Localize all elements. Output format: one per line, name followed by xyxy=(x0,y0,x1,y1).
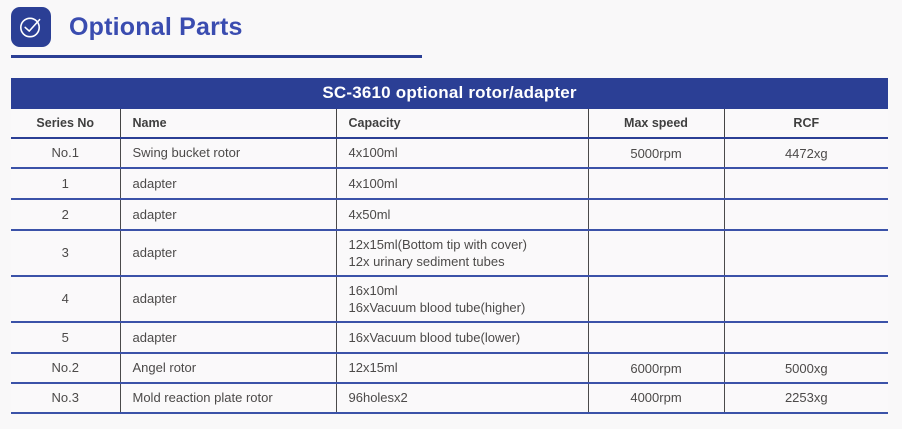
cell-series-no: 3 xyxy=(11,230,120,276)
cell-max-speed: 5000rpm xyxy=(588,138,724,168)
cell-capacity: 96holesx2 xyxy=(336,383,588,413)
cell-rcf xyxy=(724,168,888,199)
cell-name: adapter xyxy=(120,276,336,322)
cell-max-speed xyxy=(588,230,724,276)
table-row: 3 adapter 12x15ml(Bottom tip with cover)… xyxy=(11,230,888,276)
optional-parts-page: Optional Parts SC-3610 optional rotor/ad… xyxy=(0,0,902,429)
column-header-rcf: RCF xyxy=(724,109,888,138)
cell-name: Angel rotor xyxy=(120,353,336,383)
cell-series-no: 2 xyxy=(11,199,120,230)
cell-max-speed: 4000rpm xyxy=(588,383,724,413)
cell-name: adapter xyxy=(120,322,336,353)
cell-capacity: 4x100ml xyxy=(336,168,588,199)
column-header-name: Name xyxy=(120,109,336,138)
spec-table-wrap: SC-3610 optional rotor/adapter Series No… xyxy=(11,78,888,414)
cell-rcf: 4472xg xyxy=(724,138,888,168)
cell-rcf: 5000xg xyxy=(724,353,888,383)
table-body: No.1 Swing bucket rotor 4x100ml 5000rpm … xyxy=(11,138,888,413)
cell-name: Swing bucket rotor xyxy=(120,138,336,168)
column-header-capacity: Capacity xyxy=(336,109,588,138)
table-row: 2 adapter 4x50ml xyxy=(11,199,888,230)
cell-series-no: No.2 xyxy=(11,353,120,383)
cell-name: adapter xyxy=(120,230,336,276)
cell-max-speed xyxy=(588,199,724,230)
table-caption: SC-3610 optional rotor/adapter xyxy=(11,78,888,109)
cell-capacity: 16xVacuum blood tube(lower) xyxy=(336,322,588,353)
optional-rotor-adapter-table: SC-3610 optional rotor/adapter Series No… xyxy=(11,78,888,414)
title-divider xyxy=(11,55,422,58)
table-row: 5 adapter 16xVacuum blood tube(lower) xyxy=(11,322,888,353)
table-row: No.2 Angel rotor 12x15ml 6000rpm 5000xg xyxy=(11,353,888,383)
cell-name: adapter xyxy=(120,168,336,199)
header-row: Optional Parts xyxy=(0,0,902,47)
cell-capacity: 4x100ml xyxy=(336,138,588,168)
table-row: No.3 Mold reaction plate rotor 96holesx2… xyxy=(11,383,888,413)
cell-rcf xyxy=(724,199,888,230)
cell-rcf xyxy=(724,230,888,276)
cell-max-speed xyxy=(588,168,724,199)
table-header-row: Series No Name Capacity Max speed RCF xyxy=(11,109,888,138)
column-header-series-no: Series No xyxy=(11,109,120,138)
cell-rcf: 2253xg xyxy=(724,383,888,413)
table-row: No.1 Swing bucket rotor 4x100ml 5000rpm … xyxy=(11,138,888,168)
cell-max-speed xyxy=(588,276,724,322)
column-header-max-speed: Max speed xyxy=(588,109,724,138)
page-title: Optional Parts xyxy=(69,15,243,40)
cell-series-no: 1 xyxy=(11,168,120,199)
page-header: Optional Parts xyxy=(0,0,902,70)
cell-max-speed: 6000rpm xyxy=(588,353,724,383)
cell-series-no: 5 xyxy=(11,322,120,353)
check-circle-icon xyxy=(11,7,51,47)
cell-series-no: No.3 xyxy=(11,383,120,413)
cell-capacity: 16x10ml 16xVacuum blood tube(higher) xyxy=(336,276,588,322)
cell-series-no: 4 xyxy=(11,276,120,322)
cell-rcf xyxy=(724,276,888,322)
table-row: 4 adapter 16x10ml 16xVacuum blood tube(h… xyxy=(11,276,888,322)
cell-max-speed xyxy=(588,322,724,353)
cell-rcf xyxy=(724,322,888,353)
cell-series-no: No.1 xyxy=(11,138,120,168)
cell-name: adapter xyxy=(120,199,336,230)
table-row: 1 adapter 4x100ml xyxy=(11,168,888,199)
cell-capacity: 12x15ml xyxy=(336,353,588,383)
cell-name: Mold reaction plate rotor xyxy=(120,383,336,413)
cell-capacity: 12x15ml(Bottom tip with cover) 12x urina… xyxy=(336,230,588,276)
table-caption-row: SC-3610 optional rotor/adapter xyxy=(11,78,888,109)
cell-capacity: 4x50ml xyxy=(336,199,588,230)
